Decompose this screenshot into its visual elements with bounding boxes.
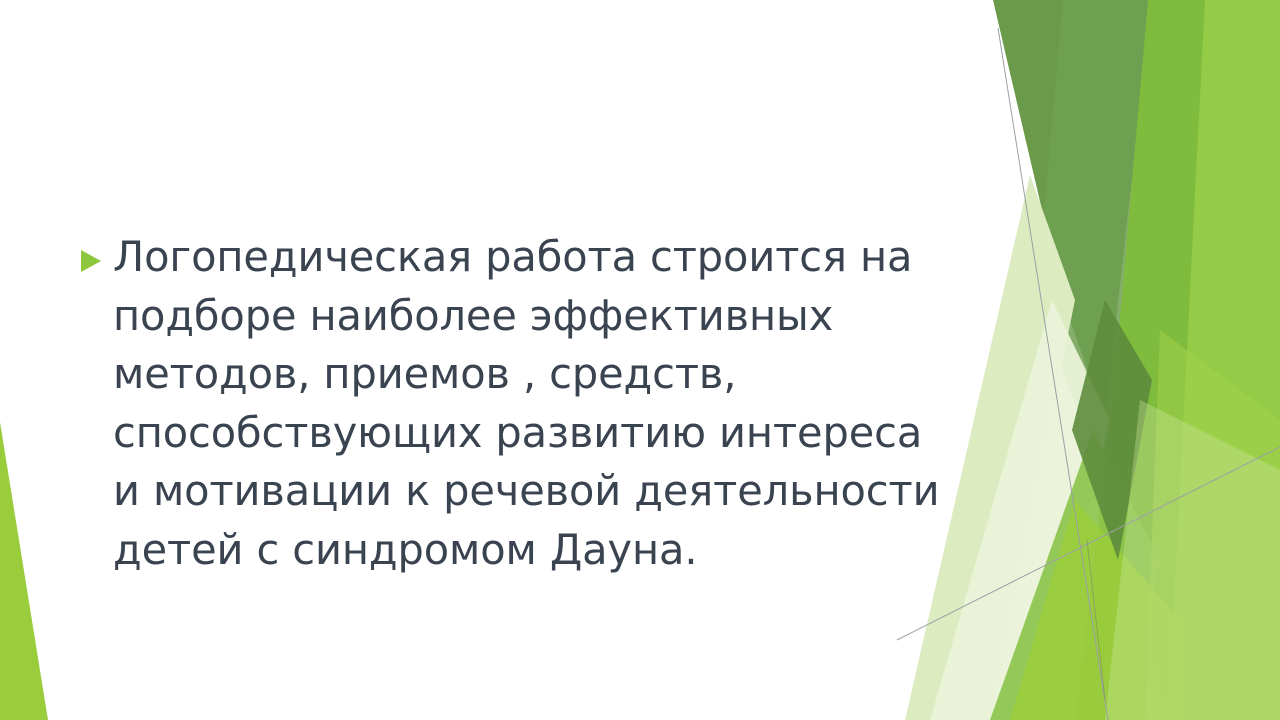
decor-shape-translucent-sweep [1105,400,1280,720]
body-text-block: Логопедическая работа строится на подбор… [78,228,958,579]
decor-shape-overlay-right-bottom [1145,330,1280,720]
decor-hairline-vertical [1087,540,1105,700]
decor-hairline-steep [998,28,1108,720]
decor-shape-light-band [990,430,1160,720]
slide-canvas: Логопедическая работа строится на подбор… [0,0,1280,720]
decor-shape-deep-notch [1072,300,1152,560]
decor-shape-dark-descend [1036,0,1152,520]
decor-shape-bright-right [1075,0,1280,720]
decor-shape-mid-sliver [1104,0,1205,720]
bullet-list-item: Логопедическая работа строится на подбор… [78,228,958,579]
decor-shape-light-far-right [1160,0,1280,720]
decor-shape-dark-v [993,0,1152,420]
bullet-item-text: Логопедическая работа строится на подбор… [113,228,958,579]
triangle-right-bullet-icon [78,248,104,274]
decor-shape-left-wedge [0,422,48,720]
decor-shape-bright-lower [1010,500,1180,720]
